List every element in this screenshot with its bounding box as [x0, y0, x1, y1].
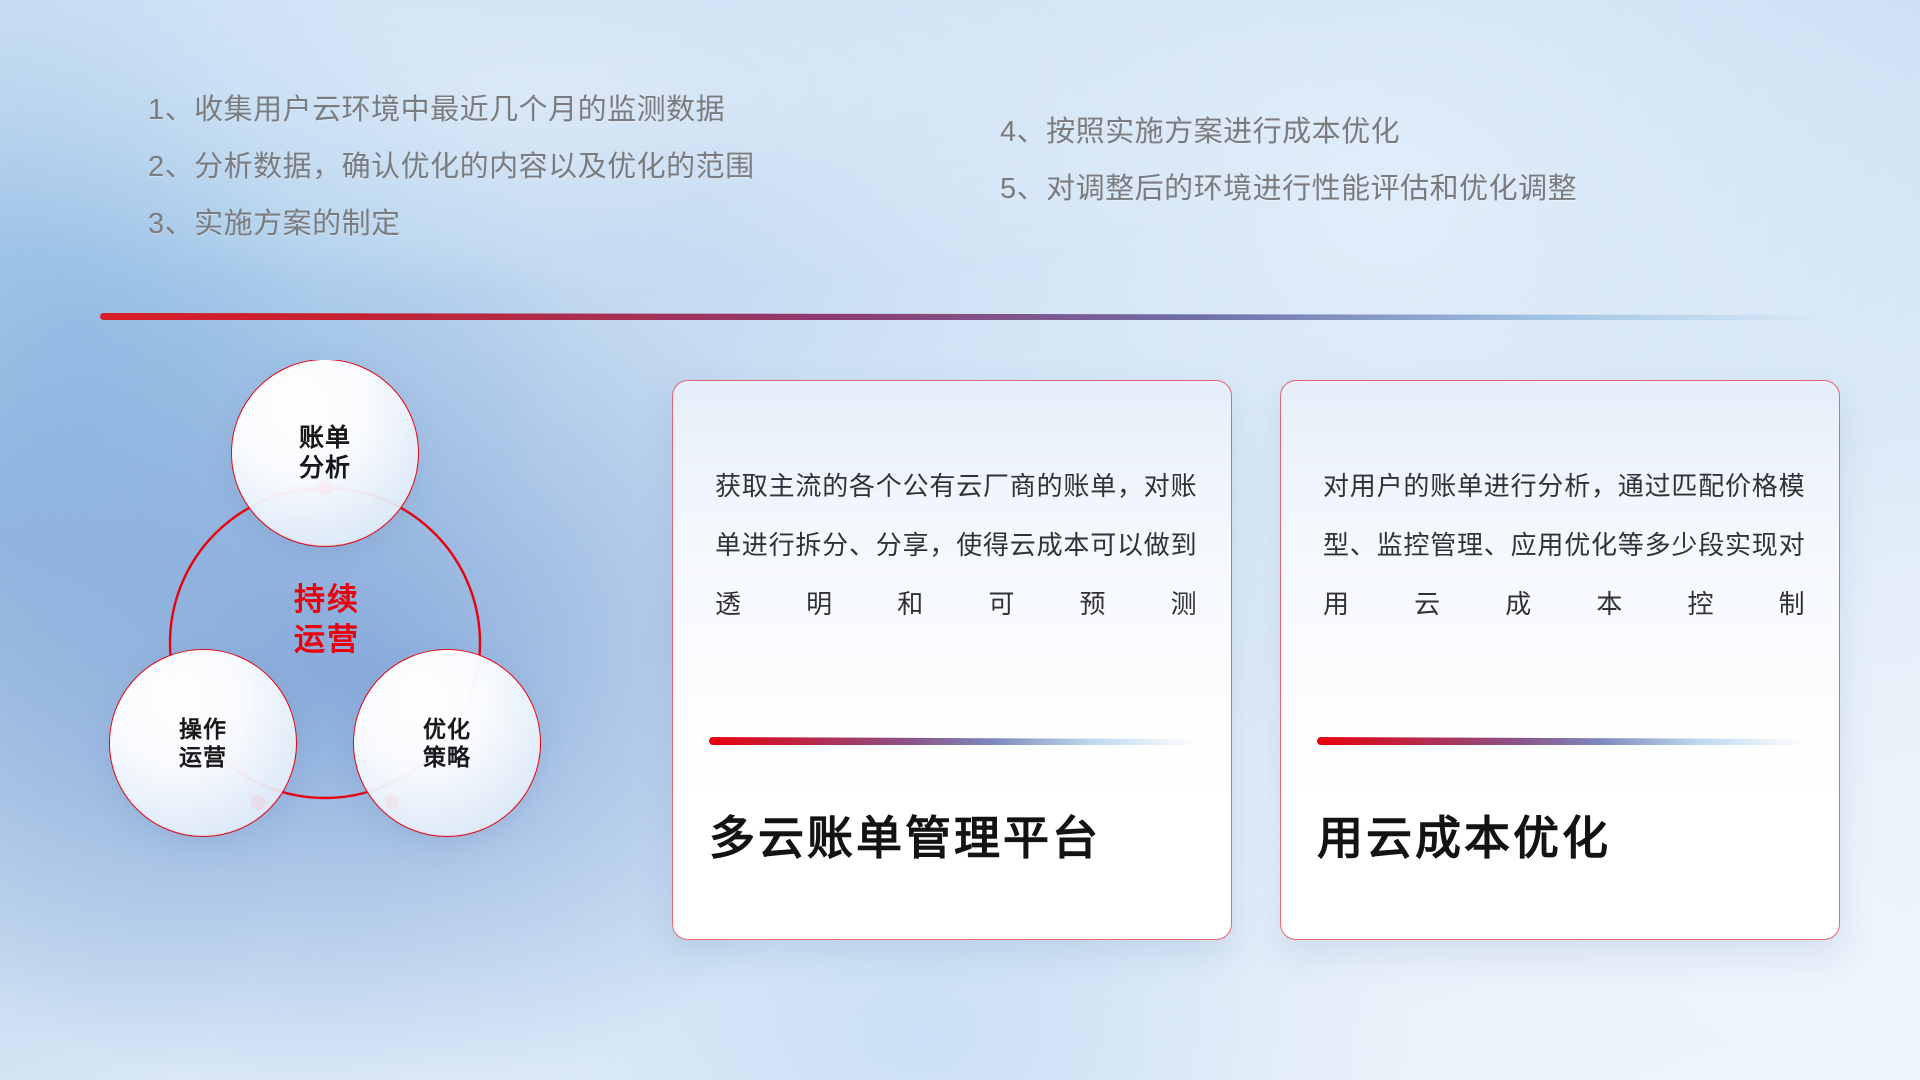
- bullet-item-1: 1、收集用户云环境中最近几个月的监测数据: [148, 96, 755, 125]
- card-1-rule: [709, 737, 1195, 745]
- bullet-column-left: 1、收集用户云环境中最近几个月的监测数据 2、分析数据，确认优化的内容以及优化的…: [148, 96, 755, 267]
- bullet-item-2: 2、分析数据，确认优化的内容以及优化的范围: [148, 153, 755, 182]
- circle-node-bill-analysis-label: 账单分析: [299, 423, 351, 484]
- card-multi-cloud-bill-platform[interactable]: 获取主流的各个公有云厂商的账单，对账单进行拆分、分享，使得云成本可以做到透明和可…: [672, 380, 1232, 940]
- bullet-column-right: 4、按照实施方案进行成本优化 5、对调整后的环境进行性能评估和优化调整: [1000, 118, 1577, 232]
- card-1-title: 多云账单管理平台: [709, 811, 1201, 866]
- continuous-operation-diagram: 账单分析 操作运营 优化策略 持续运营: [96, 360, 616, 920]
- card-2-rule: [1317, 737, 1803, 745]
- circle-node-optimize-strategy-label: 优化策略: [423, 715, 471, 771]
- circle-node-operation-label: 操作运营: [179, 715, 227, 771]
- bullet-item-3: 3、实施方案的制定: [148, 210, 755, 239]
- circle-node-operation[interactable]: 操作运营: [110, 650, 296, 836]
- bullet-item-4: 4、按照实施方案进行成本优化: [1000, 118, 1577, 147]
- circle-node-optimize-strategy[interactable]: 优化策略: [354, 650, 540, 836]
- card-2-title: 用云成本优化: [1317, 811, 1809, 866]
- diagram-center-label: 持续运营: [232, 580, 422, 659]
- card-cloud-cost-optimization[interactable]: 对用户的账单进行分析，通过匹配价格模型、监控管理、应用优化等多少段实现对用云成本…: [1280, 380, 1840, 940]
- bullet-item-5: 5、对调整后的环境进行性能评估和优化调整: [1000, 175, 1577, 204]
- circle-node-bill-analysis[interactable]: 账单分析: [232, 360, 418, 546]
- card-1-body: 获取主流的各个公有云厂商的账单，对账单进行拆分、分享，使得云成本可以做到透明和可…: [715, 457, 1197, 633]
- bullet-list-section: 1、收集用户云环境中最近几个月的监测数据 2、分析数据，确认优化的内容以及优化的…: [0, 0, 1920, 300]
- card-2-body: 对用户的账单进行分析，通过匹配价格模型、监控管理、应用优化等多少段实现对用云成本…: [1323, 457, 1805, 633]
